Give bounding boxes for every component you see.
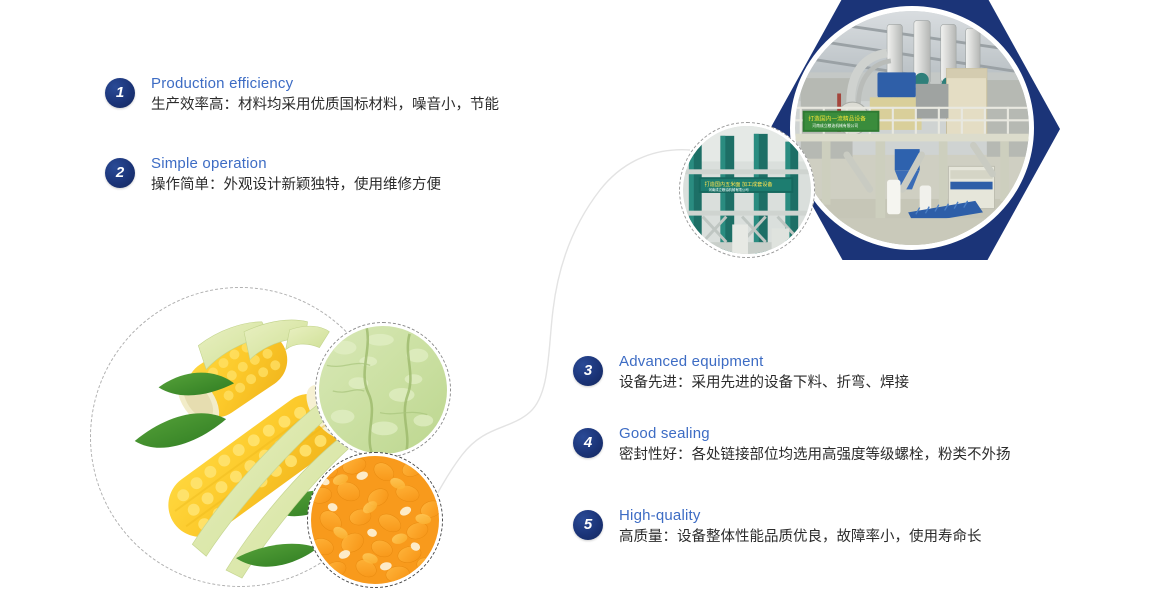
feature-item-4: 4 Good sealing 密封性好：各处链接部位均选用高强度等级螺栓，粉类不… bbox=[573, 428, 1011, 466]
feature-description-5: 高质量：设备整体性能品质优良，故障率小，使用寿命长 bbox=[619, 526, 982, 548]
corn-paste-photo bbox=[315, 322, 451, 458]
feature-description-2: 操作简单：外观设计新颖独特，使用维修方便 bbox=[151, 174, 441, 196]
feature-badge-4: 4 bbox=[573, 428, 603, 458]
equipment-secondary-photo: 打造国内五米面 加工成套设备 河南成立粮油机械有限公司 bbox=[679, 122, 815, 258]
feature-description-1: 生产效率高：材料均采用优质国标材料，噪音小，节能 bbox=[151, 94, 499, 116]
feature-item-2: 2 Simple operation 操作简单：外观设计新颖独特，使用维修方便 bbox=[105, 158, 441, 196]
feature-title-3: Advanced equipment bbox=[619, 352, 909, 372]
feature-badge-1: 1 bbox=[105, 78, 135, 108]
feature-item-5: 5 High-quality 高质量：设备整体性能品质优良，故障率小，使用寿命长 bbox=[573, 510, 982, 548]
feature-text-3: Advanced equipment 设备先进：采用先进的设备下料、折弯、焊接 bbox=[619, 352, 909, 394]
feature-badge-3: 3 bbox=[573, 356, 603, 386]
svg-text:河南成立粮油机械有限公司: 河南成立粮油机械有限公司 bbox=[812, 123, 858, 128]
feature-item-3: 3 Advanced equipment 设备先进：采用先进的设备下料、折弯、焊… bbox=[573, 356, 909, 394]
feature-item-1: 1 Production efficiency 生产效率高：材料均采用优质国标材… bbox=[105, 78, 499, 116]
equipment-main-photo: 打造国内一流精品设备 河南成立粮油机械有限公司 bbox=[790, 6, 1034, 250]
feature-title-4: Good sealing bbox=[619, 424, 1011, 444]
feature-title-1: Production efficiency bbox=[151, 74, 499, 94]
feature-description-4: 密封性好：各处链接部位均选用高强度等级螺栓，粉类不外扬 bbox=[619, 444, 1011, 466]
page-canvas: 打造国内一流精品设备 河南成立粮油机械有限公司 bbox=[0, 0, 1154, 591]
feature-text-2: Simple operation 操作简单：外观设计新颖独特，使用维修方便 bbox=[151, 154, 441, 196]
svg-text:河南成立粮油机械有限公司: 河南成立粮油机械有限公司 bbox=[709, 187, 749, 192]
feature-badge-2: 2 bbox=[105, 158, 135, 188]
svg-text:打造国内五米面 加工成套设备: 打造国内五米面 加工成套设备 bbox=[705, 181, 773, 188]
feature-text-5: High-quality 高质量：设备整体性能品质优良，故障率小，使用寿命长 bbox=[619, 506, 982, 548]
svg-text:打造国内一流精品设备: 打造国内一流精品设备 bbox=[808, 114, 866, 122]
feature-title-2: Simple operation bbox=[151, 154, 441, 174]
feature-description-3: 设备先进：采用先进的设备下料、折弯、焊接 bbox=[619, 372, 909, 394]
feature-badge-5: 5 bbox=[573, 510, 603, 540]
corn-kernels-photo bbox=[307, 452, 443, 588]
feature-title-5: High-quality bbox=[619, 506, 982, 526]
feature-text-1: Production efficiency 生产效率高：材料均采用优质国标材料，… bbox=[151, 74, 499, 116]
feature-text-4: Good sealing 密封性好：各处链接部位均选用高强度等级螺栓，粉类不外扬 bbox=[619, 424, 1011, 466]
